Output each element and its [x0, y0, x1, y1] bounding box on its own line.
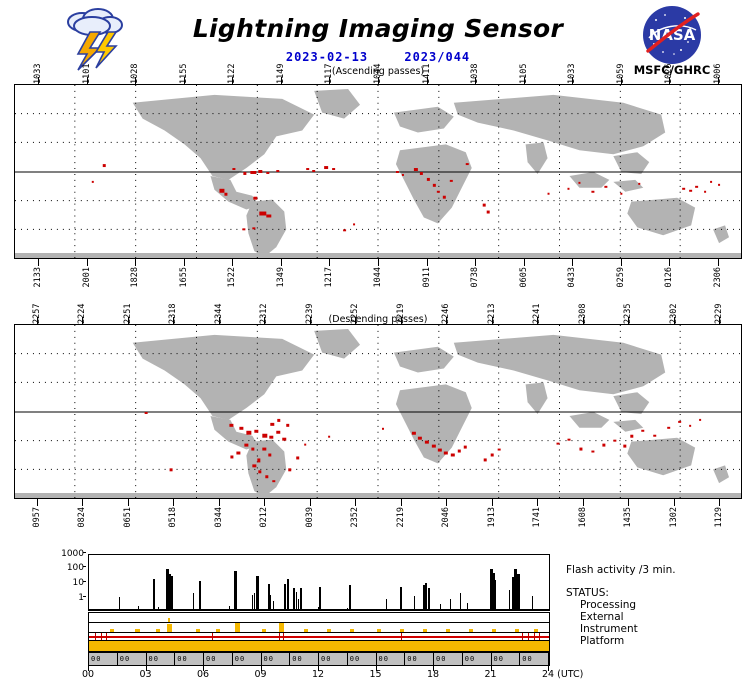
status-mark	[541, 647, 545, 651]
chart-baseline	[89, 609, 549, 610]
orbit-tick-label: 0259	[616, 267, 626, 287]
orbit-tick-label: 2252	[350, 288, 360, 324]
time-axis-box-label: 00	[149, 655, 159, 663]
time-axis-box-label: 00	[436, 655, 446, 663]
time-axis-box: 00	[348, 653, 377, 665]
time-axis-box-label: 00	[321, 655, 331, 663]
orbit-tick-label: 1026	[664, 48, 674, 84]
time-axis-box: 00	[233, 653, 262, 665]
orbit-tick-mark	[492, 498, 493, 506]
time-axis-box: 00	[175, 653, 204, 665]
time-axis-box: 00	[434, 653, 463, 665]
flash-bar	[235, 580, 237, 610]
time-axis-box-label: 00	[407, 655, 417, 663]
orbit-tick-label: 2219	[396, 288, 406, 324]
status-mark	[518, 647, 522, 651]
orbit-tick-label: 2308	[578, 288, 588, 324]
y-tick-mark	[83, 581, 86, 582]
flash-bar	[517, 574, 520, 610]
orbit-tick-mark	[232, 258, 233, 266]
flash-bar	[193, 593, 194, 610]
instrument-tick	[528, 633, 529, 640]
orbit-tick-label: 1129	[714, 507, 724, 527]
status-mark	[271, 647, 275, 651]
instrument-tick	[279, 633, 280, 640]
orbit-tick-label: 0518	[168, 507, 178, 527]
orbit-tick-label: 2241	[532, 288, 542, 324]
orbit-tick-label: 1349	[276, 267, 286, 287]
time-tick-label: 00	[82, 669, 94, 680]
legend-status-external: External	[580, 611, 756, 623]
orbit-tick-label: 2257	[32, 288, 42, 324]
flash-bar	[494, 580, 496, 610]
legend-status-platform: Platform	[580, 635, 756, 647]
legend-flash-activity: Flash activity /3 min.	[566, 564, 756, 576]
instrument-tick	[283, 633, 284, 640]
orbit-tick-label: 1033	[567, 48, 577, 84]
instrument-tick	[101, 633, 102, 640]
orbit-tick-label: 1155	[179, 48, 189, 84]
orbit-tick-mark	[128, 498, 129, 506]
flash-bar	[170, 576, 173, 610]
orbit-tick-mark	[329, 258, 330, 266]
time-axis-labels: 000306091215182124 (UTC)	[88, 669, 588, 680]
time-axis-box: 00	[262, 653, 291, 665]
flash-bar	[296, 592, 297, 610]
status-mark	[279, 623, 284, 632]
orbit-tick-mark	[82, 498, 83, 506]
orbit-tick-label: 0212	[259, 507, 269, 527]
time-tick-label: 18	[427, 669, 439, 680]
orbit-tick-mark	[446, 498, 447, 506]
time-axis-box: 00	[147, 653, 176, 665]
orbit-tick-label: 2219	[396, 507, 406, 527]
instrument-tick	[522, 633, 523, 640]
time-axis-box: 00	[405, 653, 434, 665]
orbit-tick-mark	[583, 498, 584, 506]
time-tick-label: 24 (UTC)	[542, 669, 583, 680]
status-mark	[167, 624, 172, 632]
orbit-tick-mark	[537, 498, 538, 506]
flash-bar	[284, 584, 286, 610]
y-tick-mark	[83, 596, 86, 597]
flash-bar	[509, 590, 510, 610]
orbit-tick-label: 1101	[82, 48, 92, 84]
orbit-tick-label: 2344	[214, 288, 224, 324]
time-axis-box-label: 00	[91, 655, 101, 663]
y-tick-label: 1000	[61, 550, 84, 559]
orbit-tick-label: 1828	[130, 267, 140, 287]
orbit-tick-label: 2229	[714, 288, 724, 324]
orbit-tick-label: 2224	[77, 288, 87, 324]
orbit-tick-label: 1105	[519, 48, 529, 84]
orbit-tick-label: 1741	[532, 507, 542, 527]
orbit-tick-label: 1913	[487, 507, 497, 527]
time-axis-box-label: 00	[379, 655, 389, 663]
time-axis-box: 00	[377, 653, 406, 665]
time-axis-box: 00	[463, 653, 492, 665]
flash-bar	[254, 593, 255, 610]
instrument-tick	[106, 633, 107, 640]
orbit-tick-label: 2352	[350, 507, 360, 527]
time-tick-label: 21	[485, 669, 497, 680]
orbit-tick-mark	[572, 258, 573, 266]
instrument-tick	[401, 633, 402, 640]
time-axis-box-label: 00	[177, 655, 187, 663]
time-axis-box-label: 00	[264, 655, 274, 663]
orbit-tick-label: 0651	[123, 507, 133, 527]
instrument-tick	[539, 633, 540, 640]
orbit-tick-label: 2306	[713, 267, 723, 287]
platform-fill	[89, 641, 549, 651]
orbit-tick-label: 0344	[214, 507, 224, 527]
orbit-tick-mark	[669, 258, 670, 266]
lightning-flash-points	[15, 85, 741, 258]
orbit-tick-label: 0126	[664, 267, 674, 287]
flash-bar	[460, 593, 461, 610]
orbit-tick-label: 1044	[373, 48, 383, 84]
flash-bar	[199, 581, 201, 610]
orbit-tick-mark	[524, 258, 525, 266]
time-tick-label: 06	[197, 669, 209, 680]
time-tick-label: 12	[312, 669, 324, 680]
status-mark	[438, 648, 441, 651]
orbit-tick-mark	[674, 498, 675, 506]
orbit-tick-label: 2302	[669, 288, 679, 324]
orbit-tick-mark	[37, 498, 38, 506]
orbit-tick-label: 2046	[441, 507, 451, 527]
instrument-tick	[534, 633, 535, 640]
orbit-tick-label: 2246	[441, 288, 451, 324]
map-ascending-passes[interactable]	[14, 84, 742, 259]
time-axis-box-label: 00	[465, 655, 475, 663]
time-axis-box-label: 00	[522, 655, 532, 663]
date-doy: 2023/044	[404, 50, 470, 64]
orbit-tick-mark	[719, 498, 720, 506]
y-tick-mark	[83, 566, 86, 567]
flash-bar	[532, 596, 533, 610]
flash-activity-panel: 1000 100 10 1 00000000000000000000000000…	[0, 550, 756, 680]
map-descending-passes[interactable]	[14, 324, 742, 499]
orbit-tick-mark	[628, 498, 629, 506]
time-axis-box-label: 00	[120, 655, 130, 663]
orbit-tick-label: 1302	[669, 507, 679, 527]
nasa-wordmark: NASA	[649, 26, 696, 44]
instrument-tick	[95, 633, 96, 640]
orbit-tick-label: 0738	[470, 267, 480, 287]
orbit-tick-mark	[310, 498, 311, 506]
instrument-tick	[212, 633, 213, 640]
legend-status-processing: Processing	[580, 599, 756, 611]
time-axis-box: 00	[520, 653, 549, 665]
orbit-tick-mark	[173, 498, 174, 506]
orbit-tick-label: 0605	[519, 267, 529, 287]
status-mark	[308, 647, 312, 651]
time-axis-box: 00	[89, 653, 118, 665]
time-axis-box-label: 00	[494, 655, 504, 663]
time-axis-box-label: 00	[350, 655, 360, 663]
status-mark	[114, 648, 117, 651]
time-axis-box: 00	[492, 653, 521, 665]
orbit-tick-label: 1038	[470, 48, 480, 84]
orbit-tick-label: 1117	[324, 48, 334, 84]
instrument-line	[89, 636, 549, 638]
orbit-tick-label: 0824	[77, 507, 87, 527]
orbit-tick-mark	[718, 258, 719, 266]
orbit-tick-label: 1122	[227, 48, 237, 84]
time-axis-box: 00	[204, 653, 233, 665]
y-tick-mark	[83, 552, 86, 553]
legend-status-instrument: Instrument	[580, 623, 756, 635]
flash-bar	[270, 595, 271, 610]
orbit-tick-label: 2213	[487, 288, 497, 324]
flash-bar	[252, 595, 253, 610]
orbit-tick-label: 0957	[32, 507, 42, 527]
orbit-tick-mark	[135, 258, 136, 266]
orbit-tick-label: 1059	[616, 48, 626, 84]
orbit-tick-mark	[355, 498, 356, 506]
orbit-tick-label: 1006	[713, 48, 723, 84]
flash-bar	[428, 588, 430, 610]
orbit-tick-label: 1149	[276, 48, 286, 84]
orbit-tick-mark	[264, 498, 265, 506]
time-tick-label: 09	[255, 669, 267, 680]
orbit-tick-label: 1217	[324, 267, 334, 287]
orbit-tick-mark	[427, 258, 428, 266]
orbit-tick-label: 1028	[130, 48, 140, 84]
status-mark	[235, 623, 240, 632]
orbit-tick-mark	[475, 258, 476, 266]
flash-bar	[414, 596, 415, 610]
orbit-tick-mark	[184, 258, 185, 266]
orbit-tick-label: 2318	[168, 288, 178, 324]
time-axis-box: 00	[290, 653, 319, 665]
lis-daily-summary-page: Lightning Imaging Sensor 2023-02-13 2023…	[0, 0, 756, 680]
orbit-tick-label: 2235	[623, 288, 633, 324]
orbit-tick-label: 1044	[373, 267, 383, 287]
flash-bar	[349, 585, 351, 610]
orbit-tick-label: 1655	[179, 267, 189, 287]
flash-bar	[400, 587, 402, 610]
chart-legend: Flash activity /3 min. STATUS: Processin…	[566, 564, 756, 647]
y-tick-label: 100	[67, 564, 84, 573]
time-tick-label: 03	[140, 669, 152, 680]
lightning-flash-points	[15, 325, 741, 498]
time-axis-box-label: 00	[206, 655, 216, 663]
orbit-tick-mark	[38, 258, 39, 266]
orbit-tick-mark	[87, 258, 88, 266]
orbit-tick-mark	[401, 498, 402, 506]
flash-bar	[319, 587, 321, 610]
orbit-tick-label: 1608	[578, 507, 588, 527]
orbit-tick-label: 0039	[305, 507, 315, 527]
flash-bar	[287, 579, 289, 610]
orbit-tick-label: 1435	[623, 507, 633, 527]
flash-activity-chart[interactable]	[88, 554, 550, 611]
orbit-tick-mark	[219, 498, 220, 506]
orbit-tick-label: 1522	[227, 267, 237, 287]
orbit-tick-label: 1411	[422, 48, 432, 84]
orbit-tick-mark	[621, 258, 622, 266]
orbit-tick-label: 2239	[305, 288, 315, 324]
orbit-tick-label: 2312	[259, 288, 269, 324]
orbit-tick-label: 0911	[422, 267, 432, 287]
time-axis-box: 00	[118, 653, 147, 665]
time-axis-box: 00	[319, 653, 348, 665]
orbit-tick-mark	[378, 258, 379, 266]
time-axis-box-label: 00	[292, 655, 302, 663]
time-tick-label: 15	[370, 669, 382, 680]
time-axis-box-label: 00	[235, 655, 245, 663]
orbit-tick-label: 2001	[82, 267, 92, 287]
flash-bar	[300, 588, 302, 610]
orbit-tick-label: 2133	[33, 267, 43, 287]
orbit-tick-label: 1033	[33, 48, 43, 84]
orbit-tick-label: 0433	[567, 267, 577, 287]
legend-status-title: STATUS:	[566, 587, 756, 599]
chart-y-axis: 1000 100 10 1	[50, 550, 86, 612]
time-axis-boxes: 00000000000000000000000000000000	[88, 652, 550, 666]
orbit-tick-mark	[281, 258, 282, 266]
flash-bar	[293, 588, 295, 610]
status-row-platform	[88, 640, 550, 652]
flash-bar	[153, 579, 155, 610]
status-mark	[229, 647, 233, 651]
flash-bars	[89, 555, 549, 610]
orbit-tick-label: 2251	[123, 288, 133, 324]
